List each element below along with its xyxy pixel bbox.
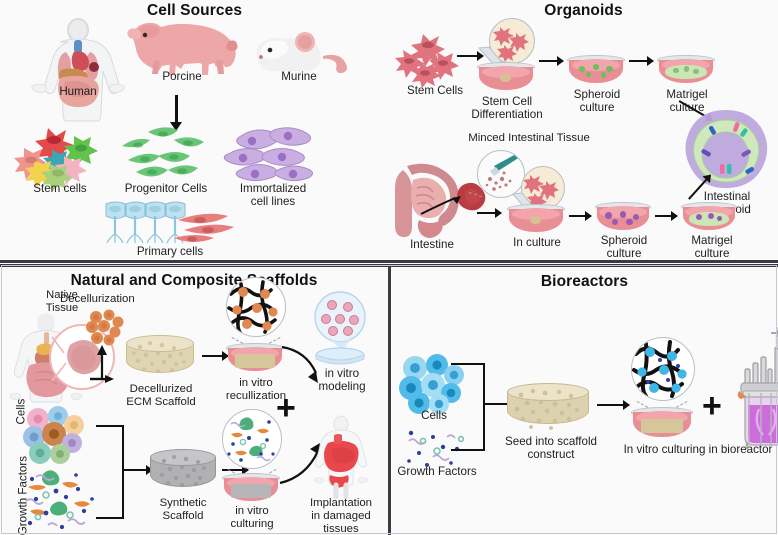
arrow-porcine-to-cells: [175, 95, 178, 123]
label-stem-cells: Stem cells: [8, 182, 112, 195]
arrow-differentiation-to-spheroid: [539, 60, 563, 62]
panel-organoids: Organoids Stem Cells: [389, 0, 778, 262]
label-intestine: Intestine: [395, 238, 469, 251]
label-implantation: Implantation in damaged tissues: [296, 497, 386, 535]
arrow-chunk-to-inculture: [477, 212, 501, 214]
plus-sign-bioreactors: +: [702, 389, 722, 423]
recullization-inset: [226, 277, 286, 337]
label-synthetic-scaffold: Synthetic Scaffold: [146, 497, 220, 523]
progenitor-cells-illustration: [118, 126, 210, 184]
dish-in-vitro-culturing: [222, 473, 280, 503]
bracket-bioreactor-inputs: [451, 363, 485, 451]
primary-cells-illustration: [100, 200, 240, 248]
decellurized-ecm-scaffold-illustration: [126, 335, 194, 381]
panel-scaffolds: Natural and Composite Scaffolds Native T…: [0, 264, 388, 535]
arrow-synthetic-to-culturing: [222, 469, 248, 471]
bioreactor-culturing-inset: [631, 337, 695, 401]
panel-divider-horizontal: [0, 260, 778, 263]
bioreactor-vessel-illustration: [735, 325, 778, 450]
intestinal-organoid-illustration: [682, 108, 770, 190]
panel-cell-sources: Cell Sources Human: [0, 0, 389, 262]
label-matrigel-culture-tissue: Matrigel culture: [677, 234, 747, 260]
label-decellurization: Decellurization: [60, 293, 180, 306]
arrow-spheroid-to-matrigel-tissue: [655, 215, 677, 217]
label-minced-intestinal-tissue: Minced Intestinal Tissue: [449, 132, 609, 145]
arrow-scaffold-to-culturing: [597, 404, 629, 406]
seed-scaffold-construct-illustration: [507, 383, 589, 433]
label-seed-into-scaffold-construct: Seed into scaffold construct: [501, 435, 601, 461]
label-in-vitro-culturing: in vitro culturing: [214, 505, 290, 531]
immortalized-cell-lines-illustration: [222, 124, 318, 184]
dish-in-vitro-recullization: [226, 343, 284, 373]
panel-title-scaffolds: Natural and Composite Scaffolds: [0, 272, 388, 290]
dish-spheroid-culture-stem: [567, 55, 625, 85]
synthetic-scaffold-illustration: [150, 449, 216, 495]
murine-mouse-illustration: [247, 26, 351, 74]
dish-spheroid-culture-tissue: [595, 202, 651, 232]
dish-bioreactor-culturing: [631, 407, 693, 439]
label-organoid-stem-cells: Stem Cells: [389, 84, 481, 97]
label-porcine: Porcine: [132, 70, 232, 83]
arrow-ecm-to-recullization: [202, 355, 228, 357]
arrow-inputs-to-synthetic-scaffold: [122, 469, 152, 471]
cells-cluster-illustration: [24, 407, 86, 467]
label-primary-cells: Primary cells: [105, 245, 235, 258]
implantation-human-illustration: [312, 413, 370, 499]
organoid-stem-cells-illustration: [397, 32, 469, 84]
label-stem-cell-differentiation: Stem Cell Differentiation: [471, 95, 543, 121]
culturing-inset: [222, 409, 282, 469]
in-vitro-modeling-illustration: [310, 289, 370, 365]
dish-matrigel-culture-tissue: [681, 202, 737, 232]
dish-stem-cell-differentiation: [477, 62, 535, 92]
label-bioreactor-growth-factors: Growth Factors: [391, 465, 483, 478]
panel-title-organoids: Organoids: [389, 2, 778, 20]
panel-title-bioreactors: Bioreactors: [391, 273, 778, 291]
porcine-pig-illustration: [124, 16, 240, 78]
label-murine: Murine: [252, 70, 346, 83]
stem-cells-illustration: [12, 126, 106, 186]
plus-sign-scaffolds: +: [276, 391, 296, 425]
label-progenitor-cells: Progenitor Cells: [110, 182, 222, 195]
label-decellurized-ecm-scaffold: Decellurized ECM Scaffold: [118, 383, 204, 409]
dish-matrigel-culture-stem: [657, 55, 715, 85]
label-human: Human: [18, 85, 138, 98]
arrow-tissue-branch: [86, 341, 116, 383]
figure-root: Cell Sources Human: [0, 0, 778, 535]
label-spheroid-culture-stem: Spheroid culture: [561, 88, 633, 114]
growth-factors-illustration: [22, 465, 102, 535]
dish-in-culture: [507, 204, 565, 234]
arrow-intestine-to-chunk: [419, 186, 463, 218]
bracket-cells-growthfactors: [96, 425, 124, 519]
panel-bioreactors: Bioreactors Cells: [388, 264, 778, 535]
arrow-inculture-to-spheroid: [569, 215, 591, 217]
minced-tissue-inset: [477, 150, 525, 198]
label-spheroid-culture-tissue: Spheroid culture: [589, 234, 659, 260]
label-in-culture: In culture: [503, 236, 571, 249]
label-in-vitro-modeling: in vitro modeling: [300, 367, 384, 393]
arrow-spheroid-to-matrigel: [629, 60, 653, 62]
